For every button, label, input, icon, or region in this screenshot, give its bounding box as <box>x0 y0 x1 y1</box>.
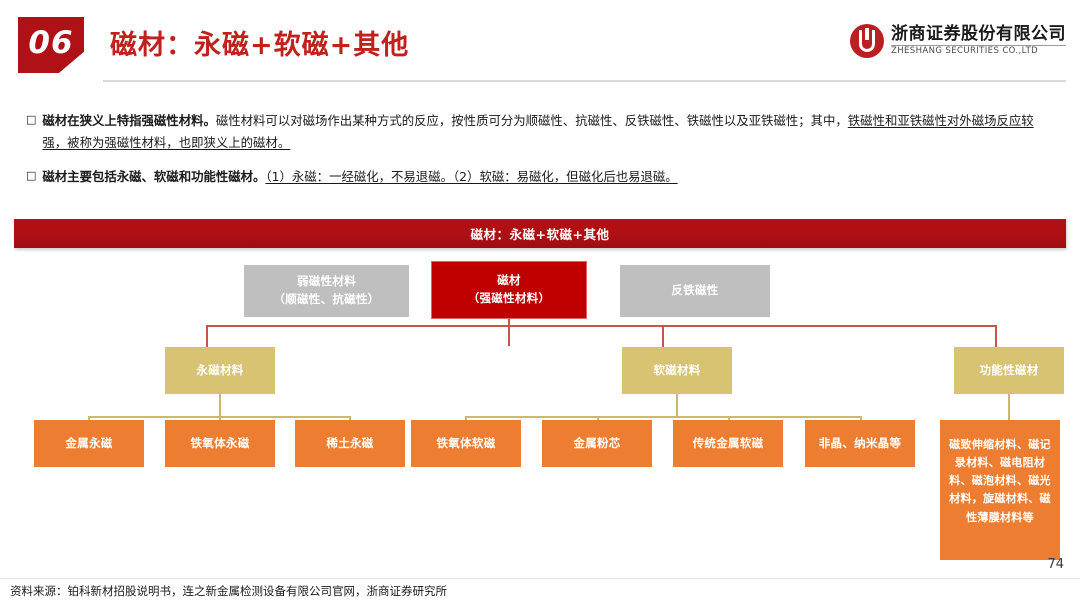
bullet-item: □ 磁材主要包括永磁、软磁和功能性磁材。（1）永磁：一经磁化，不易退磁。（2）软… <box>26 166 1056 188</box>
diagram-node-metal-powder: 金属粉芯 <box>542 420 652 467</box>
node-label: 磁致伸缩材料、磁记录材料、磁电阻材料、磁泡材料、磁光材料，旋磁材料、磁性薄膜材料… <box>945 436 1055 527</box>
company-logo: 浙商证券股份有限公司 ZHESHANG SECURITIES CO.,LTD <box>850 18 1066 64</box>
page-title: 磁材：永磁+软磁+其他 <box>110 23 409 62</box>
node-label: 稀土永磁 <box>326 435 373 453</box>
diagram-node-soft-magnetic: 软磁材料 <box>622 347 732 394</box>
diagram-node-ferrite-hard: 铁氧体永磁 <box>165 420 275 467</box>
bullet-segment-bold: 磁材主要包括永磁、软磁 <box>42 169 178 184</box>
diagram-node-trad-metal-soft: 传统金属软磁 <box>673 420 783 467</box>
page-number: 74 <box>1047 557 1064 572</box>
node-label: 功能性磁材 <box>980 362 1039 380</box>
node-label: 传统金属软磁 <box>693 435 764 453</box>
diagram-node-amorphous: 非晶、纳米晶等 <box>805 420 915 467</box>
logo-name-en: ZHESHANG SECURITIES CO.,LTD <box>891 45 1066 56</box>
connector-tan-stem-soft <box>676 394 678 417</box>
bullet-marker: □ <box>26 166 36 187</box>
logo-text: 浙商证券股份有限公司 ZHESHANG SECURITIES CO.,LTD <box>891 26 1066 56</box>
connector-red-drop-func <box>995 325 997 347</box>
diagram-node-hard-magnetic: 永磁材料 <box>165 347 275 394</box>
node-line-2: （顺磁性、抗磁性） <box>273 291 379 309</box>
bullet-text: 磁材主要包括永磁、软磁和功能性磁材。（1）永磁：一经磁化，不易退磁。（2）软磁：… <box>42 166 1056 188</box>
node-label: 反铁磁性 <box>671 282 718 300</box>
footer-divider <box>0 578 1080 579</box>
logo-name-cn: 浙商证券股份有限公司 <box>891 26 1066 44</box>
diagram-node-magnetic-material: 磁材 （强磁性材料） <box>431 261 587 319</box>
connector-red-drop-hard <box>206 325 208 347</box>
node-label: 金属永磁 <box>65 435 112 453</box>
node-label: 铁氧体永磁 <box>191 435 250 453</box>
diagram-node-functional-magnetic: 功能性磁材 <box>954 347 1064 394</box>
logo-mark-icon <box>850 24 884 58</box>
node-label: 非晶、纳米晶等 <box>819 435 902 453</box>
node-line-1: 磁材 <box>497 272 521 290</box>
diagram-node-functional-list: 磁致伸缩材料、磁记录材料、磁电阻材料、磁泡材料、磁光材料，旋磁材料、磁性薄膜材料… <box>940 420 1060 560</box>
diagram-node-ferrite-soft: 铁氧体软磁 <box>411 420 521 467</box>
diagram-node-antiferromagnetic: 反铁磁性 <box>620 265 770 317</box>
diagram-node-metal-hard: 金属永磁 <box>34 420 144 467</box>
org-diagram: 磁材：永磁+软磁+其他 弱磁性材料 （顺磁性、抗磁性） 磁材 （强磁性材料） 反… <box>14 217 1066 572</box>
bullet-segment-bold: 和功能性磁材。 <box>179 169 266 184</box>
connector-red-vertical-from-root <box>508 319 510 346</box>
connector-red-drop-soft <box>662 325 664 347</box>
node-label: 永磁材料 <box>196 362 243 380</box>
connector-tan-stem-hard <box>219 394 221 417</box>
connector-tan-bus-soft <box>465 416 862 418</box>
node-line-2: （强磁性材料） <box>468 290 551 308</box>
bullet-text: 磁材在狭义上特指强磁性材料。磁性材料可以对磁场作出某种方式的反应，按性质可分为顺… <box>42 110 1056 154</box>
body-bullets: □ 磁材在狭义上特指强磁性材料。磁性材料可以对磁场作出某种方式的反应，按性质可分… <box>26 110 1056 188</box>
slide: 06 磁材：永磁+软磁+其他 浙商证券股份有限公司 ZHESHANG SECUR… <box>0 0 1080 608</box>
bullet-segment-bold: 磁材在狭义上特指强磁性材料。 <box>42 113 215 128</box>
connector-red-horizontal-bus <box>206 325 996 327</box>
bullet-segment-plain: 磁性材料可以对磁场作出某种方式的反应，按性质可分为顺磁性、抗磁性、反铁磁性、铁磁… <box>216 113 848 128</box>
source-note: 资料来源：铂科新材招股说明书，连之新金属检测设备有限公司官网，浙商证券研究所 <box>10 583 447 599</box>
bullet-segment-underline: （1）永磁：一经磁化，不易退磁。（2）软磁：易磁化，但磁化后也易退磁。 <box>265 169 677 184</box>
bullet-marker: □ <box>26 110 36 131</box>
bullet-item: □ 磁材在狭义上特指强磁性材料。磁性材料可以对磁场作出某种方式的反应，按性质可分… <box>26 110 1056 154</box>
node-line-1: 弱磁性材料 <box>297 273 356 291</box>
section-number-badge: 06 <box>18 17 84 73</box>
node-label: 金属粉芯 <box>573 435 620 453</box>
diagram-node-weak-magnetic: 弱磁性材料 （顺磁性、抗磁性） <box>244 265 409 317</box>
diagram-node-rare-earth: 稀土永磁 <box>295 420 405 467</box>
node-label: 软磁材料 <box>653 362 700 380</box>
diagram-title-banner: 磁材：永磁+软磁+其他 <box>14 219 1066 248</box>
node-label: 铁氧体软磁 <box>437 435 496 453</box>
header-divider <box>103 80 1066 82</box>
